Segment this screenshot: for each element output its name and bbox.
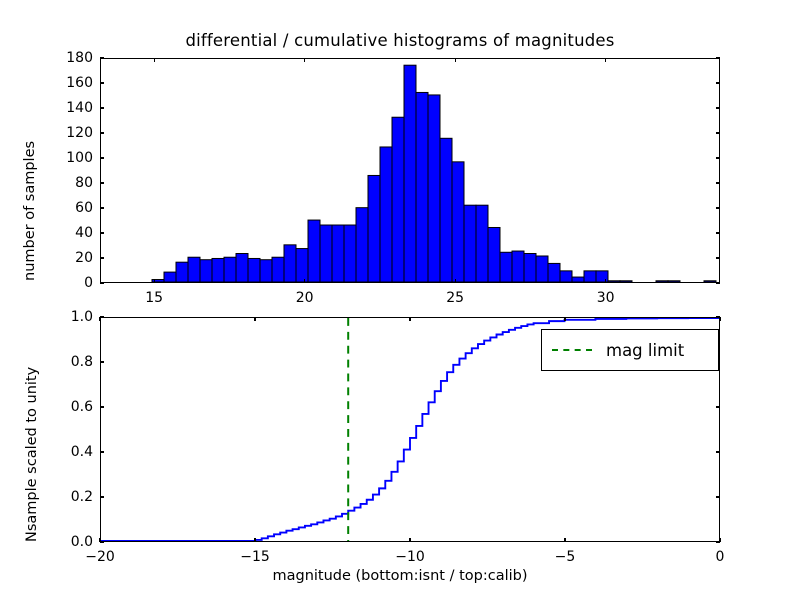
top-y-tick-label: 180 xyxy=(66,51,93,65)
histogram-bar xyxy=(608,281,620,282)
bottom-y-tick-label: 0.0 xyxy=(71,535,93,549)
histogram-bar xyxy=(392,117,404,282)
bottom-y-tick-label: 0.2 xyxy=(71,490,93,504)
histogram-bar xyxy=(260,260,272,282)
tick-mark xyxy=(100,157,104,158)
tick-mark xyxy=(719,317,720,321)
histogram-bar xyxy=(428,95,440,282)
histogram-bar xyxy=(164,272,176,282)
histogram-bar xyxy=(500,252,512,282)
histogram-bar xyxy=(464,205,476,282)
figure-title: differential / cumulative histograms of … xyxy=(0,31,800,50)
tick-mark xyxy=(605,58,606,62)
tick-mark xyxy=(100,282,104,283)
figure-canvas: differential / cumulative histograms of … xyxy=(0,0,800,600)
top-x-tick-label: 20 xyxy=(296,291,314,305)
tick-mark xyxy=(409,317,410,321)
tick-mark xyxy=(716,107,720,108)
histogram-bar xyxy=(188,257,200,282)
histogram-bar xyxy=(476,205,488,282)
bottom-x-tick-label: −15 xyxy=(240,550,270,564)
top-y-tick-label: 100 xyxy=(66,151,93,165)
top-x-tick-label: 25 xyxy=(446,291,464,305)
histogram-bar xyxy=(488,227,500,282)
bottom-y-tick-label: 1.0 xyxy=(71,310,93,324)
histogram-bar xyxy=(308,220,320,282)
top-y-tick-label: 140 xyxy=(66,101,93,115)
tick-mark xyxy=(154,279,155,283)
histogram-bar xyxy=(524,254,536,282)
tick-mark xyxy=(304,279,305,283)
tick-mark xyxy=(455,279,456,283)
histogram-bar xyxy=(656,281,668,282)
tick-mark xyxy=(100,257,104,258)
top-y-tick-label: 80 xyxy=(75,176,93,190)
histogram-bar xyxy=(416,92,428,282)
bottom-y-tick-label: 0.6 xyxy=(71,400,93,414)
tick-mark xyxy=(100,496,104,497)
histogram-bar xyxy=(248,258,260,282)
tick-mark xyxy=(455,58,456,62)
top-x-tick-label: 15 xyxy=(145,291,163,305)
legend-label-mag-limit: mag limit xyxy=(606,341,684,360)
tick-mark xyxy=(719,538,720,542)
bottom-y-axis-label: Nsample scaled to unity xyxy=(24,367,40,542)
tick-mark xyxy=(100,361,104,362)
tick-mark xyxy=(716,182,720,183)
bottom-y-tick-label: 0.8 xyxy=(71,355,93,369)
histogram-bar xyxy=(512,251,524,282)
histogram-bar xyxy=(212,258,224,282)
mag-limit-line-icon xyxy=(552,349,592,351)
top-y-tick-label: 0 xyxy=(84,276,93,290)
histogram-bar xyxy=(668,281,680,282)
tick-mark xyxy=(154,58,155,62)
bottom-x-tick-label: −10 xyxy=(395,550,425,564)
histogram-bar xyxy=(452,162,464,282)
histogram-bar xyxy=(332,225,344,282)
histogram-bar xyxy=(368,175,380,282)
tick-mark xyxy=(716,157,720,158)
histogram-bar xyxy=(572,277,584,282)
tick-mark xyxy=(716,496,720,497)
histogram-bar xyxy=(440,138,452,282)
tick-mark xyxy=(716,232,720,233)
tick-mark xyxy=(564,538,565,542)
histogram-bar xyxy=(704,281,716,282)
histogram-bar xyxy=(536,256,548,282)
top-x-tick-label: 30 xyxy=(597,291,615,305)
bottom-y-tick-label: 0.4 xyxy=(71,445,93,459)
top-y-tick-label: 160 xyxy=(66,76,93,90)
histogram-bar xyxy=(620,281,632,282)
histogram-bar xyxy=(272,257,284,282)
top-y-tick-label: 120 xyxy=(66,126,93,140)
tick-mark xyxy=(254,538,255,542)
tick-mark xyxy=(99,538,100,542)
top-y-axis-label: number of samples xyxy=(22,141,38,281)
histogram-bar xyxy=(344,225,356,282)
tick-mark xyxy=(100,132,104,133)
tick-mark xyxy=(100,451,104,452)
top-y-tick-label: 20 xyxy=(75,251,93,265)
top-histogram-bars xyxy=(101,59,719,282)
top-y-tick-label: 40 xyxy=(75,226,93,240)
histogram-bar xyxy=(224,257,236,282)
histogram-bar xyxy=(584,271,596,282)
tick-mark xyxy=(409,538,410,542)
tick-mark xyxy=(100,207,104,208)
tick-mark xyxy=(564,317,565,321)
bottom-x-tick-label: 0 xyxy=(716,550,725,564)
tick-mark xyxy=(100,232,104,233)
histogram-bar xyxy=(320,225,332,282)
tick-mark xyxy=(304,58,305,62)
histogram-bar xyxy=(284,245,296,282)
tick-mark xyxy=(100,57,104,58)
tick-mark xyxy=(716,207,720,208)
tick-mark xyxy=(716,132,720,133)
tick-mark xyxy=(100,182,104,183)
top-y-tick-label: 60 xyxy=(75,201,93,215)
tick-mark xyxy=(716,451,720,452)
top-histogram-axes xyxy=(100,58,720,283)
tick-mark xyxy=(254,317,255,321)
tick-mark xyxy=(716,406,720,407)
histogram-bar xyxy=(296,249,308,282)
histogram-bar xyxy=(176,262,188,282)
histogram-bar xyxy=(380,147,392,282)
histogram-bar xyxy=(236,254,248,282)
tick-mark xyxy=(716,257,720,258)
histogram-bar xyxy=(356,208,368,282)
bottom-x-tick-label: −5 xyxy=(555,550,576,564)
tick-mark xyxy=(716,82,720,83)
tick-mark xyxy=(716,57,720,58)
histogram-bar xyxy=(560,271,572,282)
legend-box[interactable]: mag limit xyxy=(541,329,719,371)
histogram-bar xyxy=(548,263,560,282)
bottom-x-tick-label: −20 xyxy=(85,550,115,564)
tick-mark xyxy=(100,82,104,83)
tick-mark xyxy=(100,107,104,108)
tick-mark xyxy=(99,317,100,321)
x-axis-label: magnitude (bottom:isnt / top:calib) xyxy=(0,568,800,584)
tick-mark xyxy=(605,279,606,283)
tick-mark xyxy=(716,282,720,283)
histogram-bar xyxy=(404,65,416,282)
histogram-bar xyxy=(200,260,212,282)
tick-mark xyxy=(100,406,104,407)
